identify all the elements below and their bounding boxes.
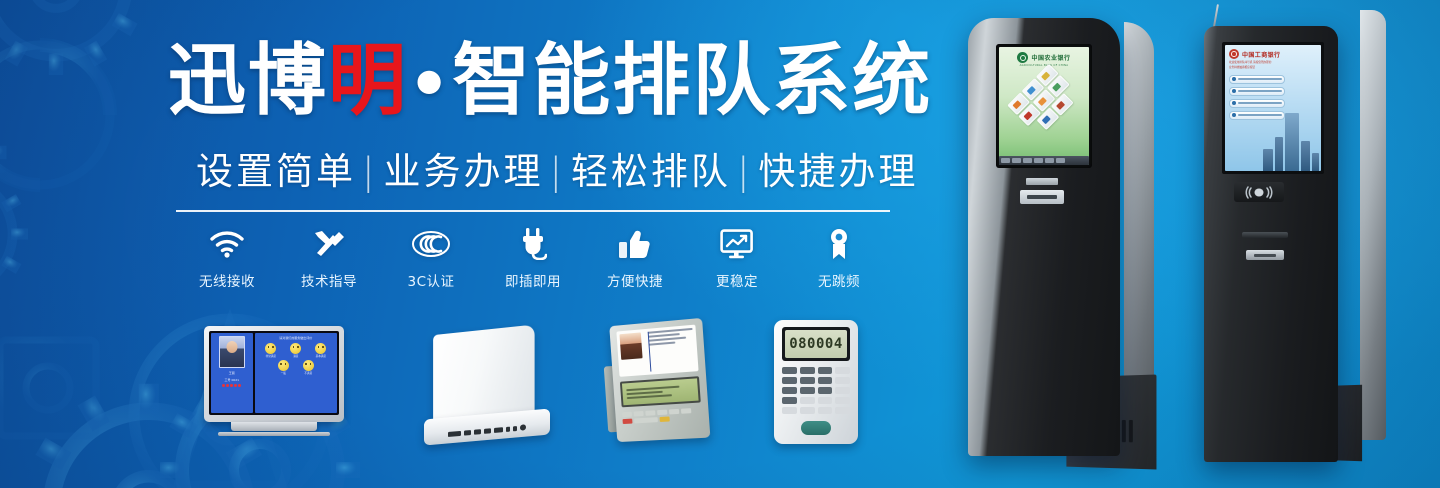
caller-key[interactable] <box>818 367 833 374</box>
subtitle-separator: | <box>356 150 383 193</box>
product-showcase: 王丽 工号 0021 请对我们的服务做出评价 非常满意 满意 基本满意 一般 不… <box>0 312 900 462</box>
feature-item-no-hopping: 无跳频 <box>788 224 890 290</box>
caller-key[interactable] <box>835 407 850 414</box>
rating-face-caption: 非常满意 <box>266 355 276 358</box>
smiley-face-icon <box>315 343 326 354</box>
caller-keypad[interactable] <box>782 367 850 414</box>
product-queue-host-controller <box>424 330 550 448</box>
smiley-face-icon <box>278 360 289 371</box>
subtitle-item-1: 设置简单 <box>196 150 356 193</box>
rating-face-caption: 满意 <box>293 355 298 358</box>
page-title: 迅博明•智能排队系统 <box>168 38 908 128</box>
evaluator-keypad[interactable] <box>622 408 702 425</box>
product-keypad-caller: 080004 <box>774 320 858 444</box>
monitor-staff-panel: 王丽 工号 0021 <box>211 333 253 413</box>
caller-display-value: 080004 <box>789 336 843 352</box>
rating-face-list: 非常满意 满意 基本满意 一般 不满意 <box>257 343 335 375</box>
rating-face-caption: 不满意 <box>304 372 312 375</box>
feature-label: 技术指导 <box>301 270 357 290</box>
feature-label: 方便快捷 <box>607 270 663 290</box>
caller-key[interactable] <box>782 407 797 414</box>
monitor-base <box>218 432 330 436</box>
caller-key[interactable] <box>835 377 850 384</box>
rfid-reader-icon[interactable] <box>1234 182 1284 202</box>
rating-face-option[interactable]: 不满意 <box>297 360 319 375</box>
kiosk-body: 中国工商银行 欢迎使用排队叫号机 请按您所办理的 业务种类触摸相应按钮 <box>1204 26 1338 462</box>
caller-key[interactable] <box>818 377 833 384</box>
product-desktop-evaluator <box>604 318 714 446</box>
title-highlight: 明 <box>328 36 408 126</box>
host-port <box>520 424 526 431</box>
evaluator-key[interactable] <box>669 409 679 415</box>
evaluator-key[interactable] <box>634 411 644 417</box>
kiosk-menu-button[interactable] <box>1229 87 1285 96</box>
product-evaluation-monitor: 王丽 工号 0021 请对我们的服务做出评价 非常满意 满意 基本满意 一般 不… <box>204 326 344 436</box>
evaluator-key[interactable] <box>657 410 667 416</box>
caller-body: 080004 <box>774 320 858 444</box>
host-port <box>506 426 510 431</box>
feature-label: 无线接收 <box>199 270 255 290</box>
caller-key[interactable] <box>800 387 815 394</box>
caller-lcd: 080004 <box>785 330 847 358</box>
kiosk-side-rail <box>1360 10 1386 440</box>
smiley-face-icon <box>290 343 301 354</box>
rating-face-option[interactable]: 一般 <box>272 360 294 375</box>
award-ribbon-icon <box>826 224 852 264</box>
evaluator-key[interactable] <box>681 408 691 414</box>
title-part-1: 迅博 <box>168 36 328 126</box>
bank-name-english: AGRICULTURAL BANK OF CHINA <box>1020 64 1069 67</box>
power-plug-icon <box>519 224 547 264</box>
smiley-face-icon <box>303 360 314 371</box>
feature-label: 更稳定 <box>716 270 758 290</box>
evaluator-key-wide[interactable] <box>634 417 658 423</box>
subtitle-separator: | <box>731 150 758 193</box>
kiosk-menu-grid[interactable] <box>1005 61 1084 140</box>
feature-label: 3C认证 <box>407 270 454 290</box>
evaluator-staff-card <box>616 325 698 377</box>
rating-face-option[interactable]: 满意 <box>285 343 307 358</box>
caller-key[interactable] <box>835 367 850 374</box>
subtitle-separator: | <box>543 150 570 193</box>
smiley-face-icon <box>265 343 276 354</box>
divider <box>176 210 890 212</box>
feature-item-support: 技术指导 <box>278 224 380 290</box>
rating-face-caption: 基本满意 <box>316 355 326 358</box>
staff-name: 王丽 <box>229 371 235 375</box>
feature-item-ccc: 3C认证 <box>380 224 482 290</box>
monitor-rating-panel: 请对我们的服务做出评价 非常满意 满意 基本满意 一般 不满意 <box>255 333 337 413</box>
rating-face-option[interactable]: 基本满意 <box>310 343 332 358</box>
kiosk-screen[interactable]: 中国工商银行 欢迎使用排队叫号机 请按您所办理的 业务种类触摸相应按钮 <box>1225 45 1321 171</box>
evaluator-card-text <box>644 328 696 372</box>
caller-key[interactable] <box>782 397 797 404</box>
kiosk-bank-header: 中国农业银行 <box>1017 52 1070 63</box>
feature-label: 无跳频 <box>818 270 860 290</box>
kiosk-icbc: 中国工商银行 欢迎使用排队叫号机 请按您所办理的 业务种类触摸相应按钮 <box>1196 0 1376 488</box>
bank-name: 中国工商银行 <box>1242 50 1280 59</box>
feature-label: 即插即用 <box>505 270 561 290</box>
rating-prompt: 请对我们的服务做出评价 <box>279 336 312 340</box>
host-port <box>484 428 491 434</box>
promo-banner: 迅博明•智能排队系统 设置简单|业务办理|轻松排队|快捷办理 无线接收 <box>0 0 1440 488</box>
host-port <box>513 425 517 430</box>
monitor-screen: 王丽 工号 0021 请对我们的服务做出评价 非常满意 满意 基本满意 一般 不… <box>209 331 339 415</box>
feature-list: 无线接收 技术指导 <box>176 224 890 294</box>
title-dot: • <box>408 46 452 123</box>
host-port <box>474 429 481 435</box>
rating-face-caption: 一般 <box>281 372 286 375</box>
caller-key[interactable] <box>782 387 797 394</box>
kiosk-taskbar <box>999 156 1089 165</box>
bank-logo-icon <box>1017 52 1028 63</box>
subtitle-item-2: 业务办理 <box>383 150 543 193</box>
kiosk-menu-button[interactable] <box>1229 99 1285 108</box>
kiosk-body: 中国农业银行 AGRICULTURAL BANK OF CHINA <box>968 18 1120 456</box>
kiosk-logo-plate <box>1246 250 1284 260</box>
caller-key[interactable] <box>818 397 833 404</box>
kiosk-screen-bezel: 中国工商银行 欢迎使用排队叫号机 请按您所办理的 业务种类触摸相应按钮 <box>1222 42 1324 174</box>
monitor-frame: 王丽 工号 0021 请对我们的服务做出评价 非常满意 满意 基本满意 一般 不… <box>204 326 344 422</box>
host-port <box>464 430 471 436</box>
caller-key[interactable] <box>800 377 815 384</box>
subtitle: 设置简单|业务办理|轻松排队|快捷办理 <box>196 148 896 196</box>
kiosk-screen[interactable]: 中国农业银行 AGRICULTURAL BANK OF CHINA <box>999 47 1089 165</box>
feature-item-convenient: 方便快捷 <box>584 224 686 290</box>
kiosk-notice-line-2: 业务种类触摸相应按钮 <box>1229 66 1317 69</box>
staff-id: 工号 0021 <box>224 378 239 382</box>
evaluator-key-yellow[interactable] <box>660 416 670 422</box>
evaluator-key[interactable] <box>645 410 655 416</box>
kiosk-menu-button[interactable] <box>1229 75 1285 84</box>
evaluator-lcd <box>620 376 701 407</box>
evaluator-key-red[interactable] <box>623 419 633 424</box>
kiosk-bank-header: 中国工商银行 <box>1229 49 1317 59</box>
host-port <box>494 427 503 433</box>
feature-item-plug-and-play: 即插即用 <box>482 224 584 290</box>
subtitle-item-3: 轻松排队 <box>571 150 731 193</box>
kiosk-screen-bezel: 中国农业银行 AGRICULTURAL BANK OF CHINA <box>996 44 1092 168</box>
caller-key[interactable] <box>800 367 815 374</box>
feature-item-wireless: 无线接收 <box>176 224 278 290</box>
subtitle-item-4: 快捷办理 <box>758 150 918 193</box>
thumbs-up-icon <box>618 224 652 264</box>
kiosk-card-slot <box>1242 232 1288 238</box>
tools-icon <box>313 224 345 264</box>
wifi-icon <box>209 224 245 264</box>
rating-face-option[interactable]: 非常满意 <box>260 343 282 358</box>
kiosk-logo-plate <box>1026 178 1058 185</box>
kiosk-ticket-slot <box>1020 190 1064 204</box>
title-part-2: 智能排队系统 <box>452 36 932 126</box>
caller-key[interactable] <box>782 377 797 384</box>
host-port <box>448 430 461 436</box>
feature-item-stable: 更稳定 <box>686 224 788 290</box>
staff-photo <box>619 332 642 359</box>
kiosk-agricultural-bank: 中国农业银行 AGRICULTURAL BANK OF CHINA <box>968 18 1148 488</box>
caller-key[interactable] <box>835 387 850 394</box>
caller-key[interactable] <box>800 397 815 404</box>
ccc-certification-icon <box>411 224 451 264</box>
caller-key[interactable] <box>782 367 797 374</box>
caller-key[interactable] <box>818 387 833 394</box>
evaluator-key[interactable] <box>622 412 632 417</box>
kiosk-notice-line-1: 欢迎使用排队叫号机 请按您所办理的 <box>1229 61 1317 64</box>
bank-logo-icon <box>1229 49 1239 59</box>
caller-key[interactable] <box>800 407 815 414</box>
rating-stars <box>222 384 241 387</box>
caller-display-bezel: 080004 <box>782 327 850 361</box>
staff-photo <box>219 336 245 368</box>
monitor-chart-icon <box>720 224 754 264</box>
kiosk-building-artwork <box>1263 113 1319 171</box>
caller-key[interactable] <box>835 397 850 404</box>
caller-key[interactable] <box>818 407 833 414</box>
monitor-stand <box>231 422 317 431</box>
evaluator-body <box>609 318 710 442</box>
caller-enter-button[interactable] <box>801 421 831 435</box>
